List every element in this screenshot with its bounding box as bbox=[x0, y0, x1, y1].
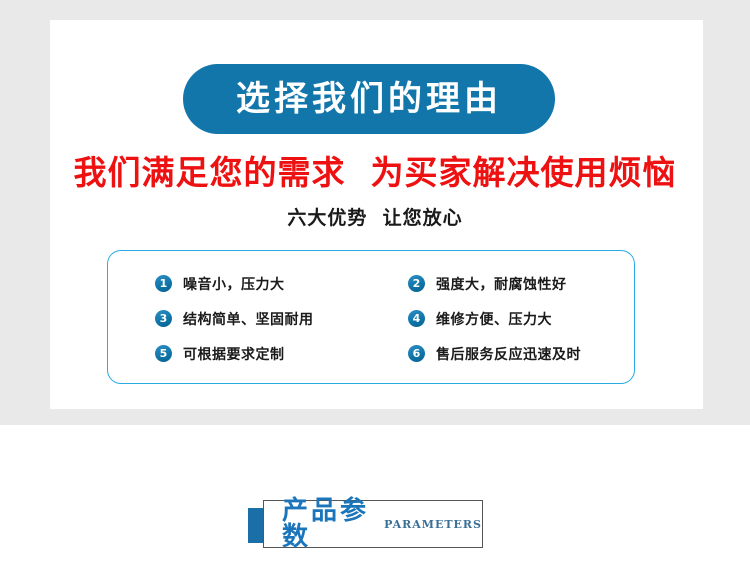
advantage-label: 维修方便、压力大 bbox=[436, 309, 552, 329]
advantage-label: 可根据要求定制 bbox=[183, 344, 285, 364]
advantage-label: 售后服务反应迅速及时 bbox=[436, 344, 581, 364]
reasons-banner: 选择我们的理由 bbox=[183, 64, 555, 134]
number-badge-icon: 2 bbox=[408, 275, 425, 292]
number-badge-icon: 1 bbox=[155, 275, 172, 292]
subtitle-slogan: 六大优势 让您放心 bbox=[0, 207, 750, 230]
advantage-label: 结构简单、坚固耐用 bbox=[183, 309, 314, 329]
list-item: 5 可根据要求定制 bbox=[155, 336, 314, 371]
list-item: 6 售后服务反应迅速及时 bbox=[408, 336, 581, 371]
list-item: 2 强度大，耐腐蚀性好 bbox=[408, 266, 581, 301]
number-badge-icon: 3 bbox=[155, 310, 172, 327]
parameters-heading: 产品参数 PARAMETERS bbox=[263, 500, 483, 548]
number-badge-icon: 6 bbox=[408, 345, 425, 362]
advantages-column-right: 2 强度大，耐腐蚀性好 4 维修方便、压力大 6 售后服务反应迅速及时 bbox=[408, 266, 581, 371]
parameters-title-en: PARAMETERS bbox=[384, 519, 482, 530]
list-item: 4 维修方便、压力大 bbox=[408, 301, 581, 336]
advantage-label: 噪音小，压力大 bbox=[183, 274, 285, 294]
list-item: 1 噪音小，压力大 bbox=[155, 266, 314, 301]
advantages-column-left: 1 噪音小，压力大 3 结构简单、坚固耐用 5 可根据要求定制 bbox=[155, 266, 314, 371]
advantages-box: 1 噪音小，压力大 3 结构简单、坚固耐用 5 可根据要求定制 2 强度大，耐腐… bbox=[107, 250, 635, 384]
number-badge-icon: 5 bbox=[155, 345, 172, 362]
parameters-title-cn: 产品参数 bbox=[282, 498, 374, 550]
advantage-label: 强度大，耐腐蚀性好 bbox=[436, 274, 567, 294]
headline-slogan: 我们满足您的需求 为买家解决使用烦恼 bbox=[0, 153, 750, 193]
list-item: 3 结构简单、坚固耐用 bbox=[155, 301, 314, 336]
promo-page: 选择我们的理由 我们满足您的需求 为买家解决使用烦恼 六大优势 让您放心 1 噪… bbox=[0, 0, 750, 583]
reasons-banner-title: 选择我们的理由 bbox=[236, 82, 502, 116]
number-badge-icon: 4 bbox=[408, 310, 425, 327]
